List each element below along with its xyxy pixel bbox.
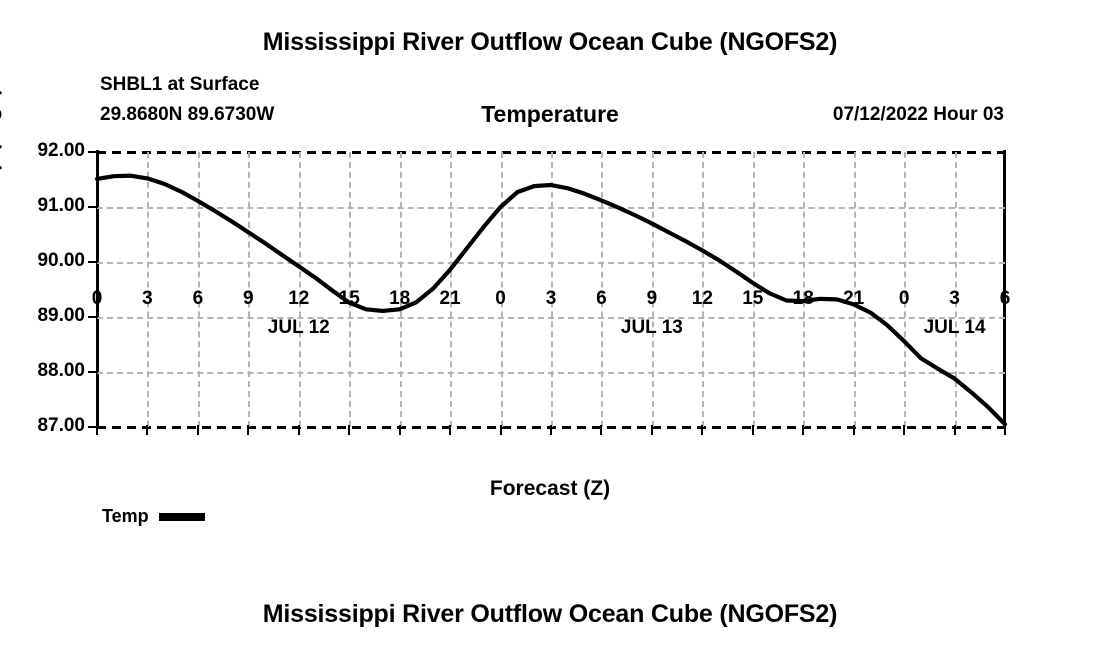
x-tick-label: 15 xyxy=(329,288,369,310)
y-tick-label: 88.00 xyxy=(37,360,85,382)
y-tick-label: 90.00 xyxy=(37,250,85,272)
y-axis-title: Temp (degF) xyxy=(0,20,3,280)
x-tick-label: 15 xyxy=(733,288,773,310)
x-tick-label: 0 xyxy=(884,288,924,310)
x-tick-label: 21 xyxy=(430,288,470,310)
x-tick-label: 3 xyxy=(935,288,975,310)
station-label: SHBL1 at Surface xyxy=(100,74,259,96)
y-tick-label: 87.00 xyxy=(37,415,85,437)
legend: Temp xyxy=(102,506,205,527)
x-tick-label: 6 xyxy=(581,288,621,310)
x-tick-label: 18 xyxy=(380,288,420,310)
x-tick-label: 6 xyxy=(178,288,218,310)
page-title-bottom: Mississippi River Outflow Ocean Cube (NG… xyxy=(0,600,1100,629)
x-tick-label: 9 xyxy=(632,288,672,310)
y-tick-label: 91.00 xyxy=(37,195,85,217)
x-tick-label: 3 xyxy=(127,288,167,310)
x-tick-label: 18 xyxy=(783,288,823,310)
x-tick-label: 0 xyxy=(481,288,521,310)
y-tick-label: 92.00 xyxy=(37,140,85,162)
forecast-datetime-label: 07/12/2022 Hour 03 xyxy=(833,104,1004,126)
legend-swatch-temp xyxy=(159,513,205,521)
day-label: JUL 12 xyxy=(229,317,369,339)
x-tick-label: 21 xyxy=(834,288,874,310)
day-label: JUL 13 xyxy=(582,317,722,339)
x-tick-label: 3 xyxy=(531,288,571,310)
x-tick-label: 9 xyxy=(228,288,268,310)
x-tick-label: 12 xyxy=(682,288,722,310)
chart-page: Mississippi River Outflow Ocean Cube (NG… xyxy=(0,0,1100,650)
page-title-top: Mississippi River Outflow Ocean Cube (NG… xyxy=(0,28,1100,57)
x-tick-label: 6 xyxy=(985,288,1025,310)
x-tick-label: 0 xyxy=(77,288,117,310)
x-tick-label: 12 xyxy=(279,288,319,310)
legend-label-temp: Temp xyxy=(102,506,149,527)
day-label: JUL 14 xyxy=(885,317,1025,339)
x-axis-title: Forecast (Z) xyxy=(0,477,1100,501)
